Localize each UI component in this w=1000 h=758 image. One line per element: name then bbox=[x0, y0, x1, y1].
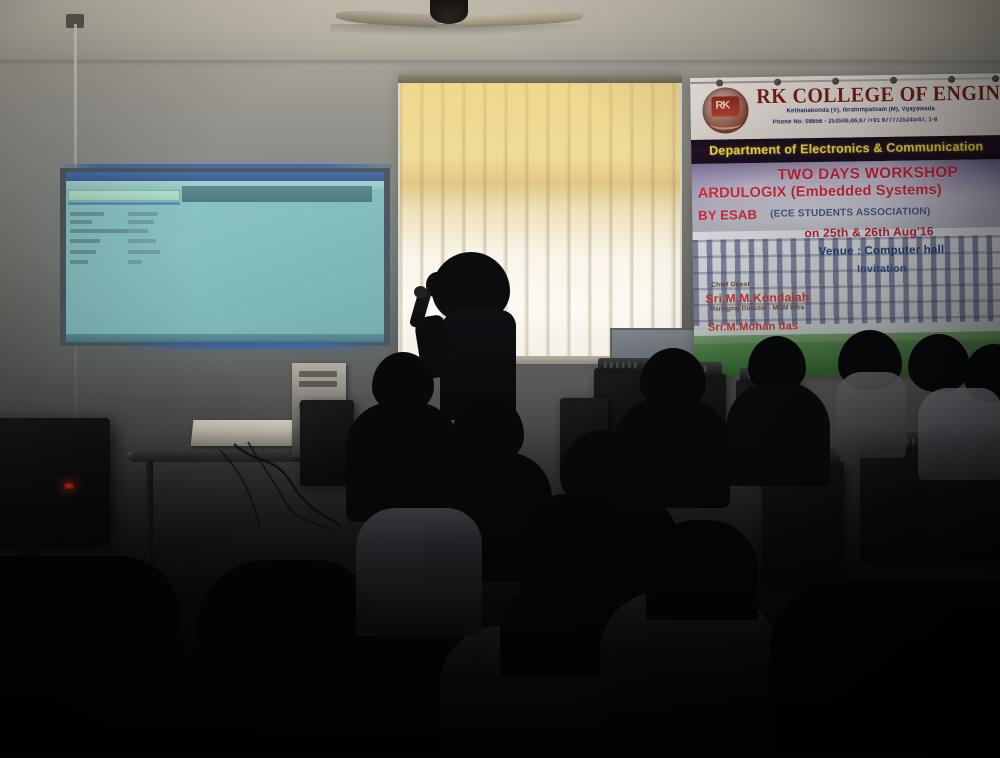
projection-screen-frame bbox=[60, 168, 390, 346]
projected-selected-row bbox=[68, 190, 180, 201]
audience-body bbox=[614, 398, 730, 508]
audience-body bbox=[726, 382, 830, 486]
event-banner: RK RK COLLEGE OF ENGINEERING Kethanakond… bbox=[690, 73, 1000, 378]
audience-shirt-light bbox=[356, 508, 482, 636]
banner-venue: Venue : Computer hall bbox=[819, 244, 945, 258]
foreground-desk-edge bbox=[106, 660, 256, 758]
crt-monitor-vent bbox=[604, 362, 638, 368]
banner-invitation: Invitation bbox=[857, 263, 907, 276]
projected-text-row bbox=[128, 220, 154, 224]
screen-bottom-glow bbox=[120, 342, 388, 349]
banner-guest-of-honour: Sri.M.Mohan das bbox=[708, 320, 799, 333]
microphone-head bbox=[414, 286, 427, 298]
projected-text-row bbox=[70, 229, 128, 233]
banner-department: Department of Electronics & Communicatio… bbox=[709, 139, 983, 157]
projected-text-row bbox=[70, 260, 88, 264]
projected-text-row bbox=[70, 250, 96, 254]
ceiling-fan-hub bbox=[430, 0, 468, 24]
projected-row-underline bbox=[68, 202, 180, 205]
projected-text-row bbox=[128, 239, 156, 243]
monitor-power-led bbox=[64, 483, 74, 489]
banner-event-line1: TWO DAYS WORKSHOP bbox=[777, 164, 958, 184]
projected-application-window bbox=[66, 172, 384, 342]
projected-statusbar bbox=[66, 334, 384, 342]
projected-window-titlebar bbox=[66, 172, 384, 181]
banner-dates: on 25th & 26th Aug'16 bbox=[804, 224, 934, 240]
foreground-person-head bbox=[500, 586, 608, 676]
banner-eyelet bbox=[716, 79, 723, 86]
college-logo-monogram: RK bbox=[715, 99, 729, 111]
projected-text-row bbox=[70, 239, 100, 243]
projected-text-row bbox=[128, 250, 160, 254]
audience-head bbox=[908, 334, 970, 392]
college-logo-arc bbox=[710, 117, 742, 130]
projection-screen bbox=[60, 168, 390, 346]
projected-panel bbox=[182, 186, 372, 202]
blind-headrail bbox=[398, 74, 682, 83]
banner-chief-guest-sub: Managing Director - MGM Infra bbox=[710, 304, 805, 312]
classroom-workshop-photo: RK RK COLLEGE OF ENGINEERING Kethanakond… bbox=[0, 0, 1000, 758]
ceiling-edge bbox=[0, 60, 1000, 67]
foreground-monitor-left[interactable] bbox=[0, 418, 110, 546]
foreground-person-head bbox=[646, 520, 758, 620]
keyboard[interactable] bbox=[191, 420, 304, 446]
audience-shirt-light bbox=[918, 388, 1000, 480]
projected-text-row bbox=[70, 220, 92, 224]
pc-drive-bay bbox=[299, 371, 337, 377]
pc-drive-bay bbox=[299, 381, 337, 387]
banner-organiser: BY ESAB bbox=[698, 207, 757, 223]
banner-chief-guest-label: Chief Guest bbox=[711, 281, 750, 289]
projected-text-row bbox=[128, 212, 158, 216]
audience-shirt-light bbox=[836, 372, 906, 458]
projected-text-row bbox=[128, 260, 142, 264]
banner-college-name: RK COLLEGE OF ENGINEERING bbox=[756, 80, 1000, 109]
projected-text-row bbox=[128, 229, 148, 233]
projected-text-row bbox=[70, 212, 104, 216]
foreground-person-body bbox=[770, 580, 1000, 758]
